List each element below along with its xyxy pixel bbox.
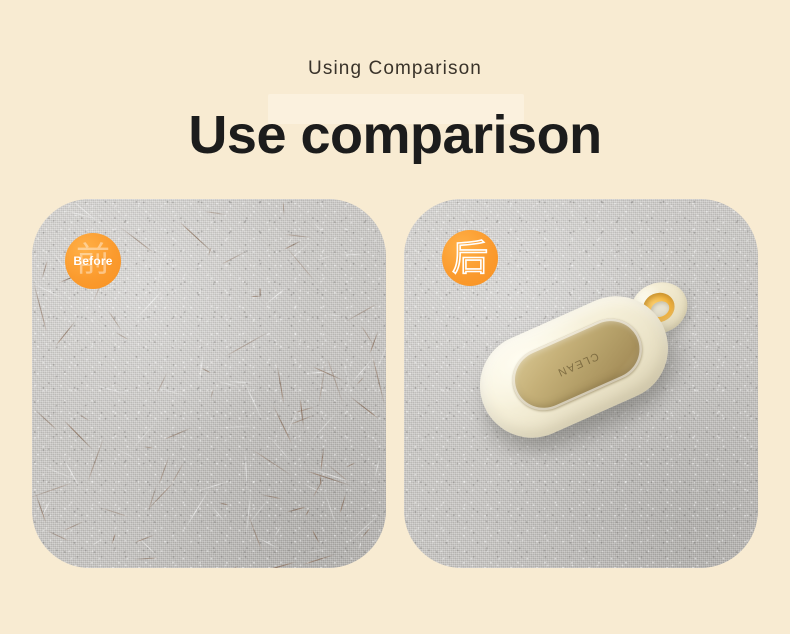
comparison-panel-after: 后 CLEAN xyxy=(404,199,758,568)
badge-before: 前 Before xyxy=(65,233,121,289)
product-brand-text: CLEAN xyxy=(554,350,600,379)
page-title: Use comparison xyxy=(0,106,790,164)
lint-remover-product: CLEAN xyxy=(464,277,724,457)
comparison-panel-before: 前 Before xyxy=(32,199,386,568)
page-header: Using Comparison Use comparison xyxy=(0,0,790,190)
page-subtitle: Using Comparison xyxy=(0,58,790,80)
badge-before-en-label: Before xyxy=(73,254,112,268)
